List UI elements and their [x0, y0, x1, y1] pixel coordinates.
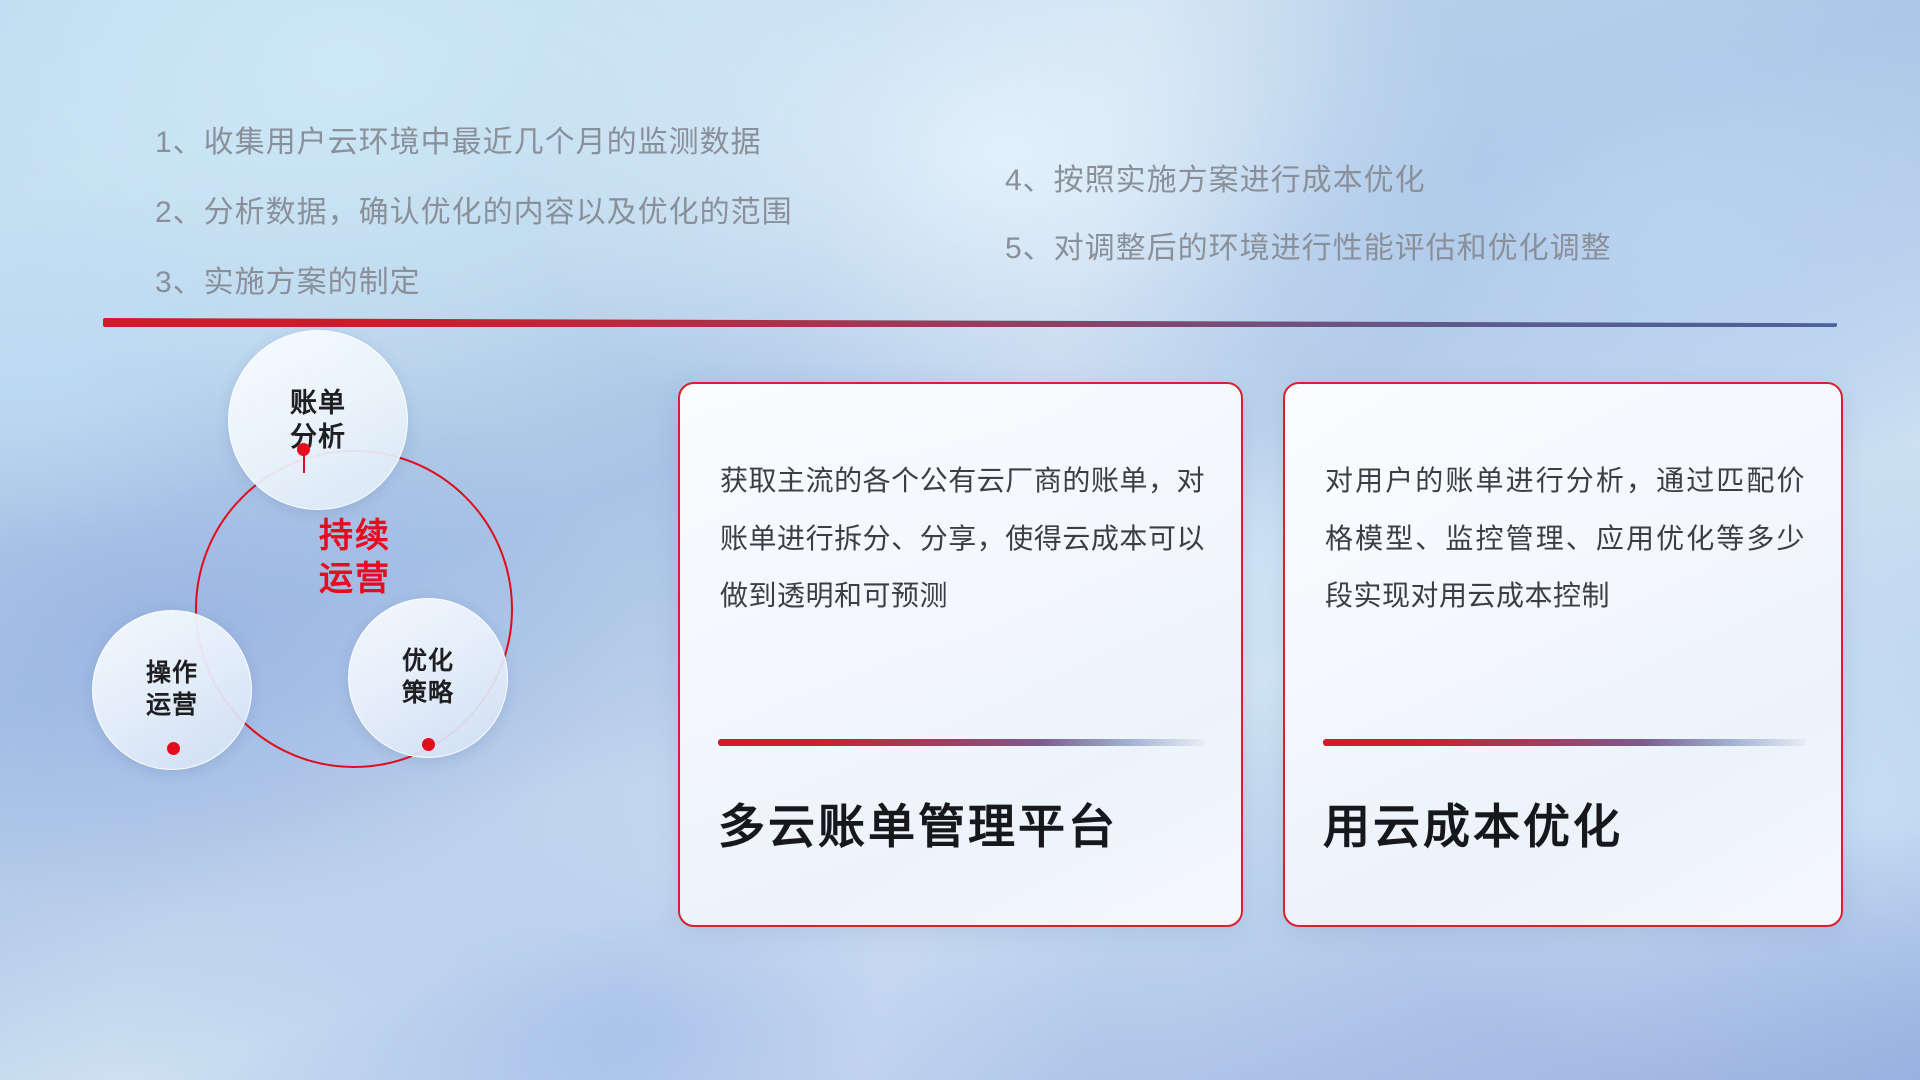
step-item-4: 4、按照实施方案进行成本优化 — [1005, 155, 1426, 199]
diagram-bubble-bill-analysis[interactable]: 账单 分析 — [228, 330, 408, 510]
diagram-node-dot-bottom-left — [167, 742, 180, 755]
step-item-3: 3、实施方案的制定 — [155, 257, 421, 301]
bubble-label-line1: 账单 — [290, 386, 346, 420]
diagram-center-label-line2: 运营 — [250, 558, 460, 601]
card-body-text: 获取主流的各个公有云厂商的账单，对账单进行拆分、分享，使得云成本可以做到透明和可… — [720, 452, 1205, 625]
step-item-5: 5、对调整后的环境进行性能评估和优化调整 — [1005, 223, 1612, 267]
card-cloud-cost-optimization[interactable]: 对用户的账单进行分析，通过匹配价格模型、监控管理、应用优化等多少段实现对用云成本… — [1283, 382, 1843, 927]
diagram-bubble-optimization-strategy[interactable]: 优化 策略 — [348, 598, 508, 758]
card-accent-rule — [1323, 739, 1807, 746]
card-accent-rule — [718, 739, 1205, 746]
bubble-label-line1: 操作 — [146, 658, 198, 690]
card-title: 用云成本优化 — [1323, 788, 1623, 857]
bubble-label-line2: 运营 — [146, 690, 198, 722]
step-item-2: 2、分析数据，确认优化的内容以及优化的范围 — [155, 187, 793, 231]
card-body-text: 对用户的账单进行分析，通过匹配价格模型、监控管理、应用优化等多少段实现对用云成本… — [1325, 452, 1805, 625]
bubble-label-line1: 优化 — [402, 646, 454, 678]
step-item-1: 1、收集用户云环境中最近几个月的监测数据 — [155, 117, 762, 161]
diagram-node-dot-bottom-right — [422, 738, 435, 751]
diagram-node-dot-top — [297, 443, 310, 456]
diagram-bubble-operations-label: 操作 运营 — [146, 658, 198, 722]
continuous-operations-diagram: 持续 运营 账单 分析 操作 运营 优化 策略 — [95, 345, 575, 925]
diagram-connector-tick — [303, 455, 305, 473]
diagram-center-label: 持续 运营 — [250, 515, 460, 601]
card-title: 多云账单管理平台 — [718, 788, 1118, 857]
process-steps-list: 1、收集用户云环境中最近几个月的监测数据 2、分析数据，确认优化的内容以及优化的… — [0, 0, 1920, 300]
diagram-center-label-line1: 持续 — [250, 515, 460, 558]
bubble-label-line2: 策略 — [402, 678, 454, 710]
diagram-bubble-optimization-strategy-label: 优化 策略 — [402, 646, 454, 710]
card-multicloud-billing-platform[interactable]: 获取主流的各个公有云厂商的账单，对账单进行拆分、分享，使得云成本可以做到透明和可… — [678, 382, 1243, 927]
